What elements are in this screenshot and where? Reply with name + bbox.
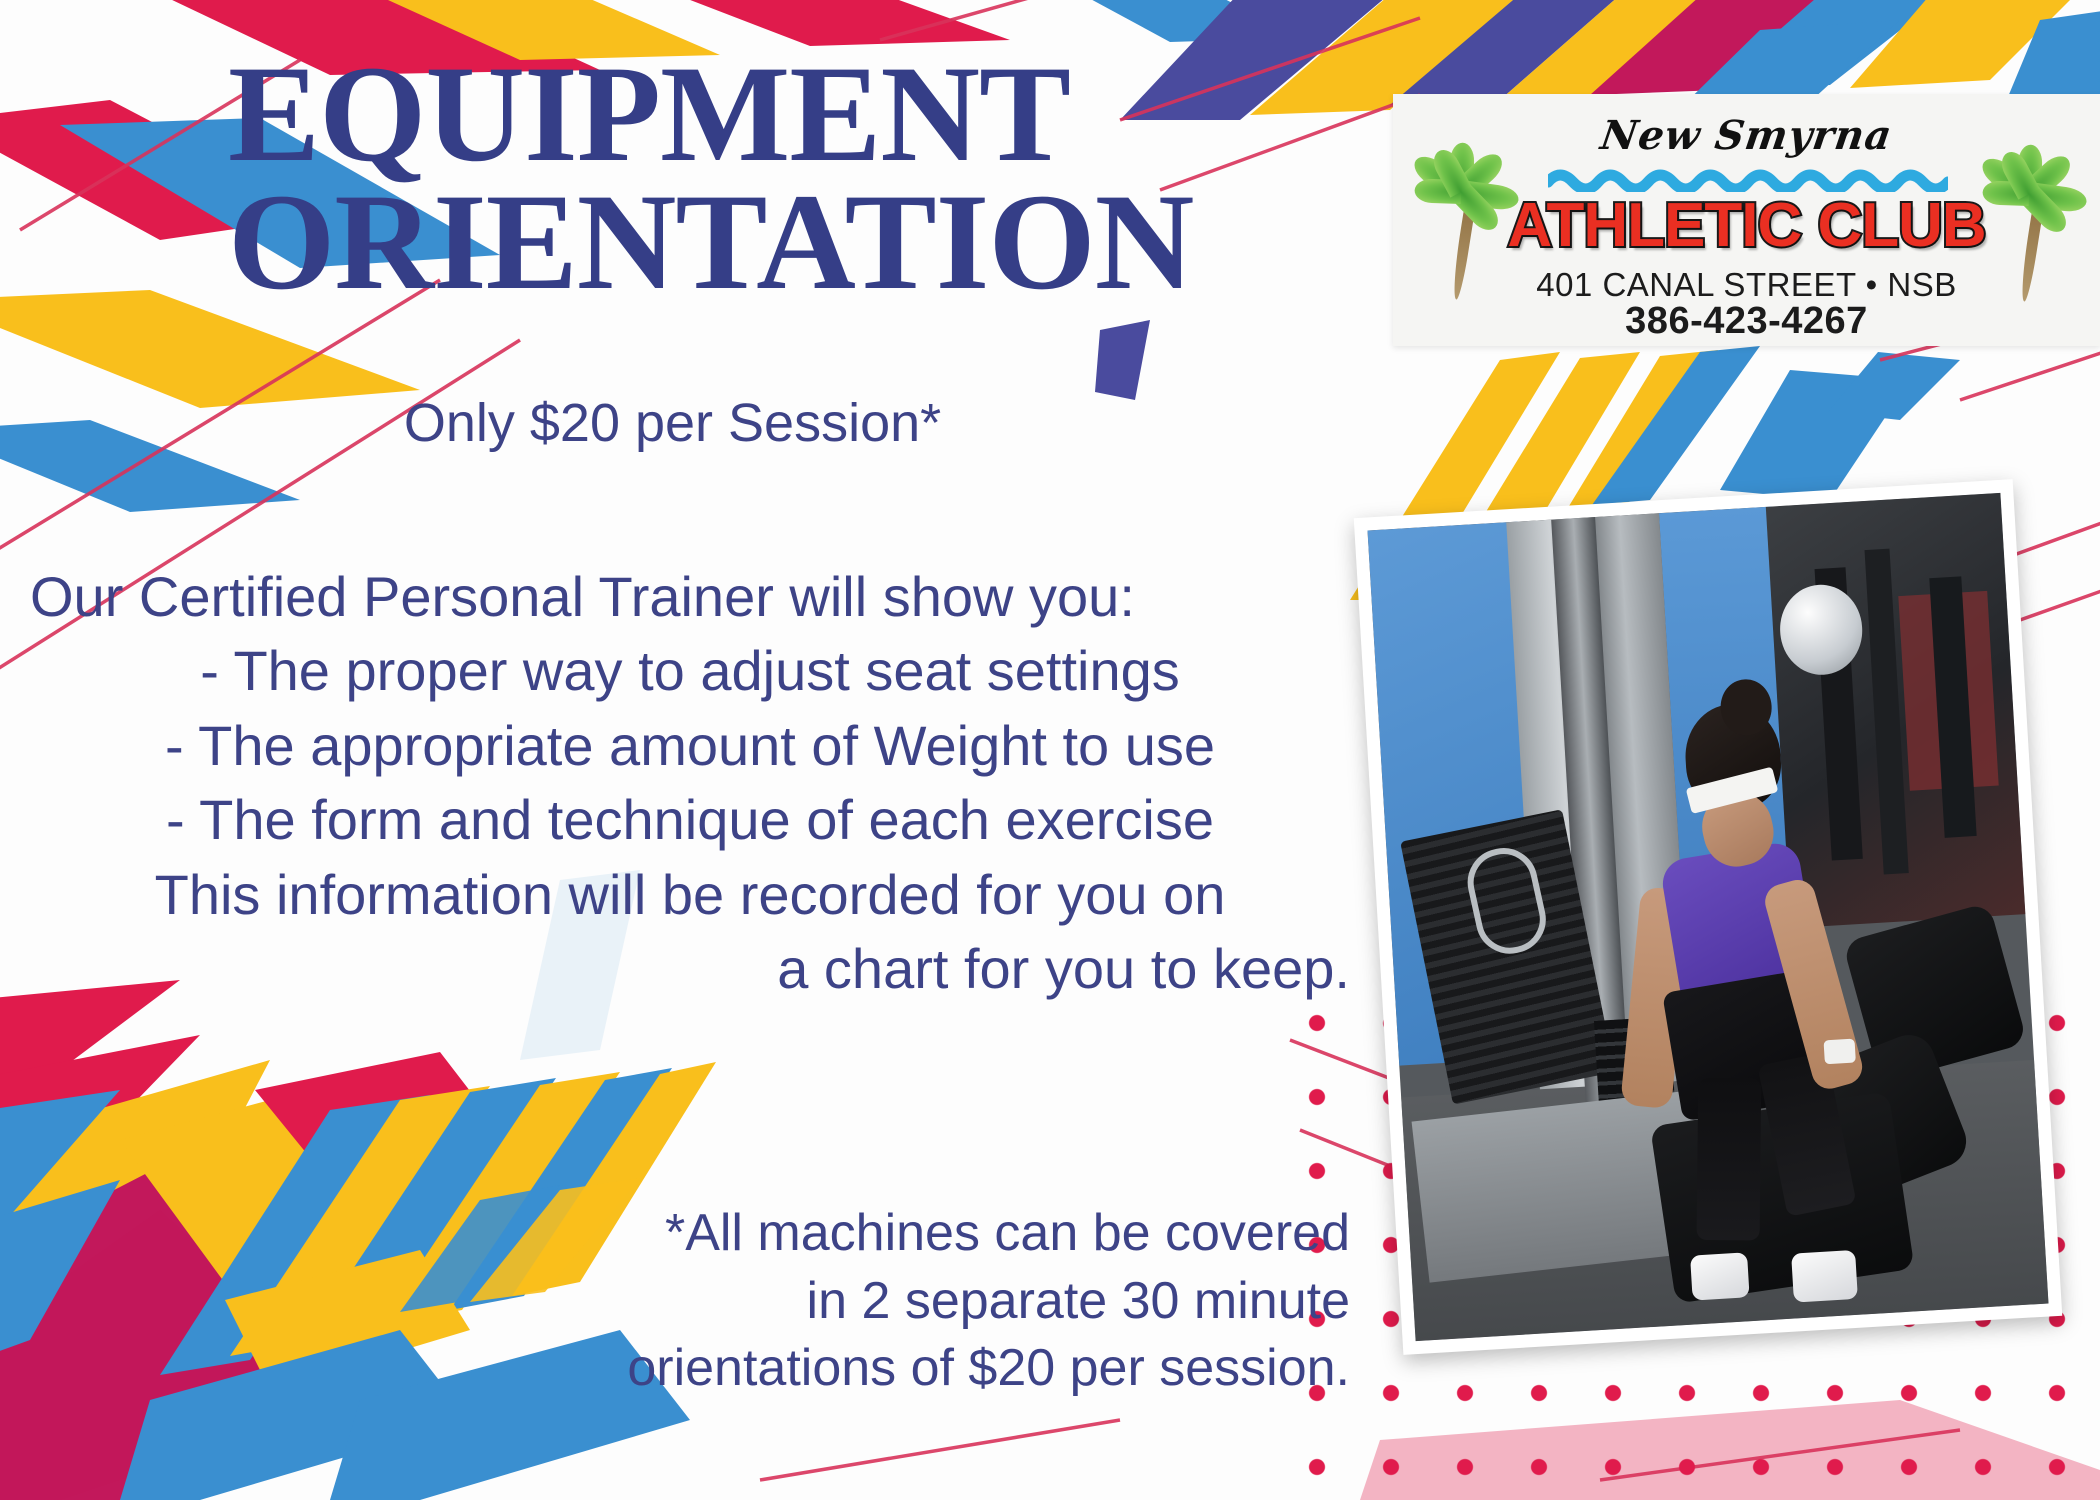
- page-title: EQUIPMENT ORIENTATION: [228, 50, 1348, 307]
- body-bullet-3: - The form and technique of each exercis…: [30, 783, 1350, 857]
- logo-phone-number: 386-423-4267: [1393, 300, 2100, 343]
- title-line-2: ORIENTATION: [228, 178, 1348, 306]
- body-bullet-2: - The appropriate amount of Weight to us…: [30, 709, 1350, 783]
- logo-club-name: ATHLETIC CLUB: [1393, 190, 2100, 261]
- gym-photo-frame: [1354, 479, 2063, 1355]
- footnote-line-2: in 2 separate 30 minute: [330, 1268, 1350, 1336]
- body-record-line-1: This information will be recorded for yo…: [30, 858, 1350, 932]
- logo-address: 401 CANAL STREET • NSB: [1393, 266, 2100, 304]
- flyer-canvas: New Smyrna ATHLETIC CLUB 401 CANAL STREE…: [0, 0, 2100, 1500]
- body-copy: Our Certified Personal Trainer will show…: [30, 560, 1350, 1007]
- price-subtitle: Only $20 per Session*: [0, 392, 1345, 454]
- body-intro-line: Our Certified Personal Trainer will show…: [30, 560, 1350, 634]
- logo-script-text: New Smyrna: [1393, 112, 2100, 159]
- footnote-line-3: orientations of $20 per session.: [330, 1335, 1350, 1403]
- body-record-line-2: a chart for you to keep.: [30, 932, 1350, 1006]
- gym-photo: [1367, 493, 2048, 1341]
- footnote-block: *All machines can be covered in 2 separa…: [330, 1200, 1350, 1403]
- athletic-club-logo: New Smyrna ATHLETIC CLUB 401 CANAL STREE…: [1393, 94, 2100, 346]
- body-bullet-1: - The proper way to adjust seat settings: [30, 634, 1350, 708]
- footnote-line-1: *All machines can be covered: [330, 1200, 1350, 1268]
- wave-icon: [1548, 166, 1948, 192]
